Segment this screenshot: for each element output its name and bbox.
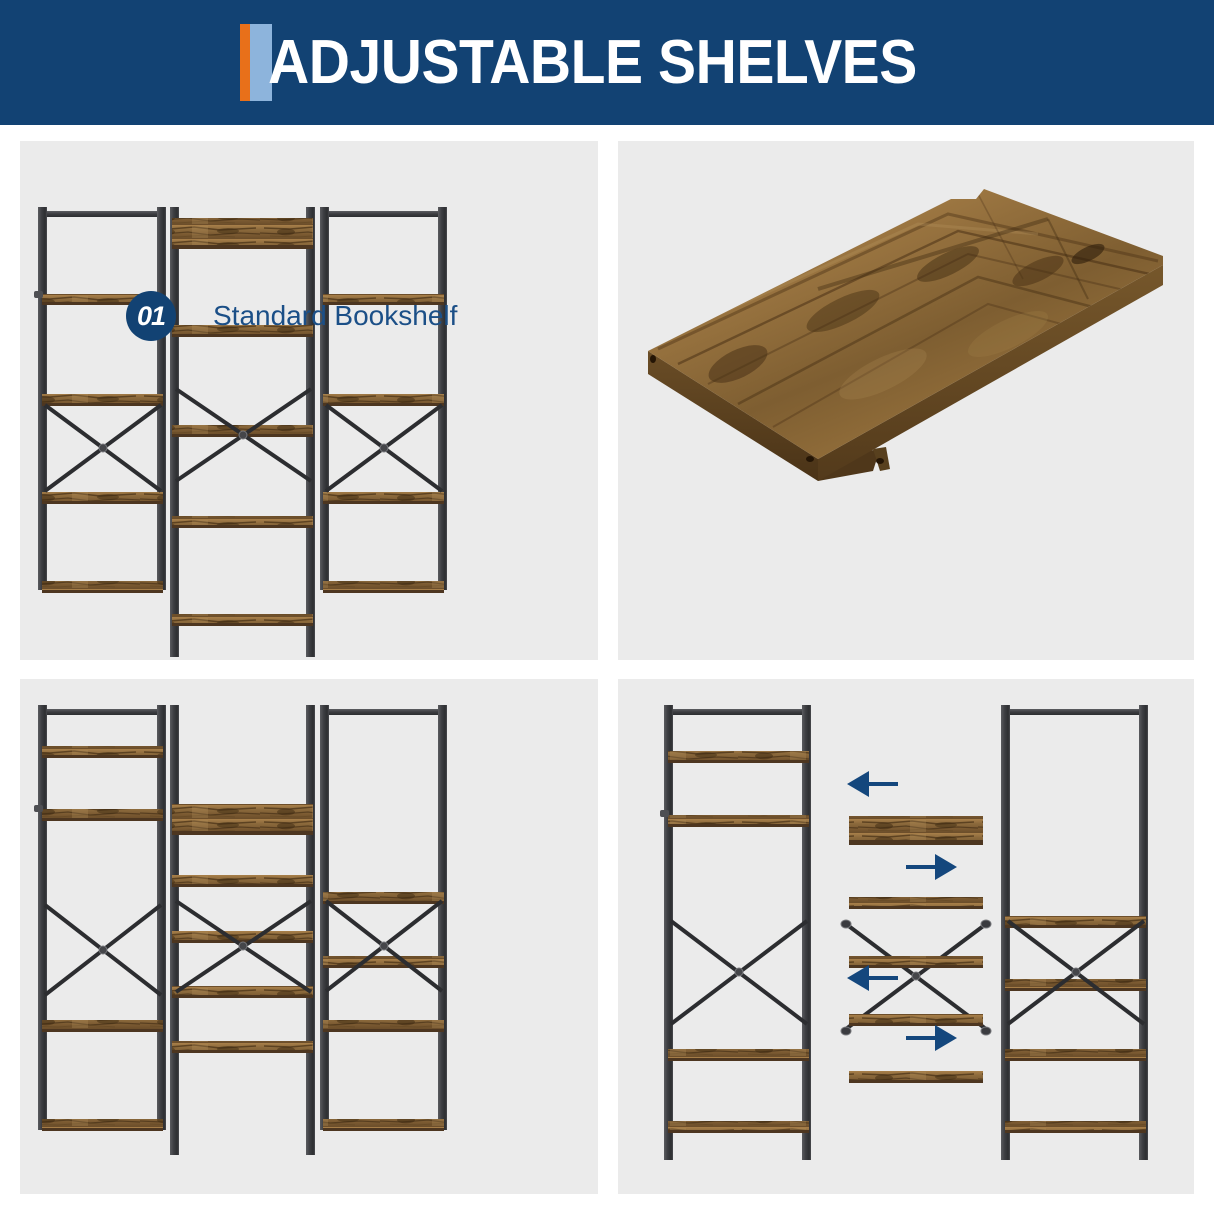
two-separate-bookshelves-diagram (618, 679, 1194, 1194)
exploded-parts (841, 816, 991, 1083)
infographic-page: ADJUSTABLE SHELVES (0, 0, 1214, 1214)
header-banner: ADJUSTABLE SHELVES (0, 0, 1214, 125)
wood-board-image (618, 159, 1194, 499)
panel-shelf-board-info: All the shelves of this bookshelf are ad… (618, 141, 1194, 660)
panel-standard-bookshelf: 01 Standard Bookshelf (20, 141, 598, 660)
arrow-right-upper (906, 854, 957, 880)
shelf-board-5 (849, 1071, 983, 1080)
center-section (170, 705, 315, 1155)
header-inner: ADJUSTABLE SHELVES (240, 24, 973, 101)
right-section (320, 705, 447, 1131)
left-section (34, 705, 166, 1131)
panel-01-title: Standard Bookshelf (213, 300, 457, 332)
arrow-left-top (847, 771, 898, 797)
page-title: ADJUSTABLE SHELVES (268, 24, 917, 101)
panel-diy-bookshelf: 02 DIY Bookshelf (20, 679, 598, 1194)
panel-two-separate-bookshelves: 03 Two Separate Bookshelves (618, 679, 1194, 1194)
arrow-right-bottom (906, 1025, 957, 1051)
shelf-board-thick (849, 816, 983, 840)
right-section (320, 207, 447, 593)
diy-bookshelf-diagram (20, 679, 598, 1194)
panel-01-badge: 01 (126, 291, 176, 341)
standard-bookshelf-diagram (20, 141, 598, 660)
center-section (170, 207, 315, 657)
shelf-board-2 (849, 897, 983, 906)
shelf-board-3 (849, 956, 983, 965)
panel-01-header: 01 Standard Bookshelf (126, 291, 457, 341)
left-bookshelf (660, 705, 811, 1160)
left-section (34, 207, 166, 593)
right-bookshelf (1001, 705, 1148, 1160)
shelf-board-4 (849, 1014, 983, 1023)
arrow-left-lower (847, 965, 898, 991)
accent-bar-orange (240, 24, 250, 101)
